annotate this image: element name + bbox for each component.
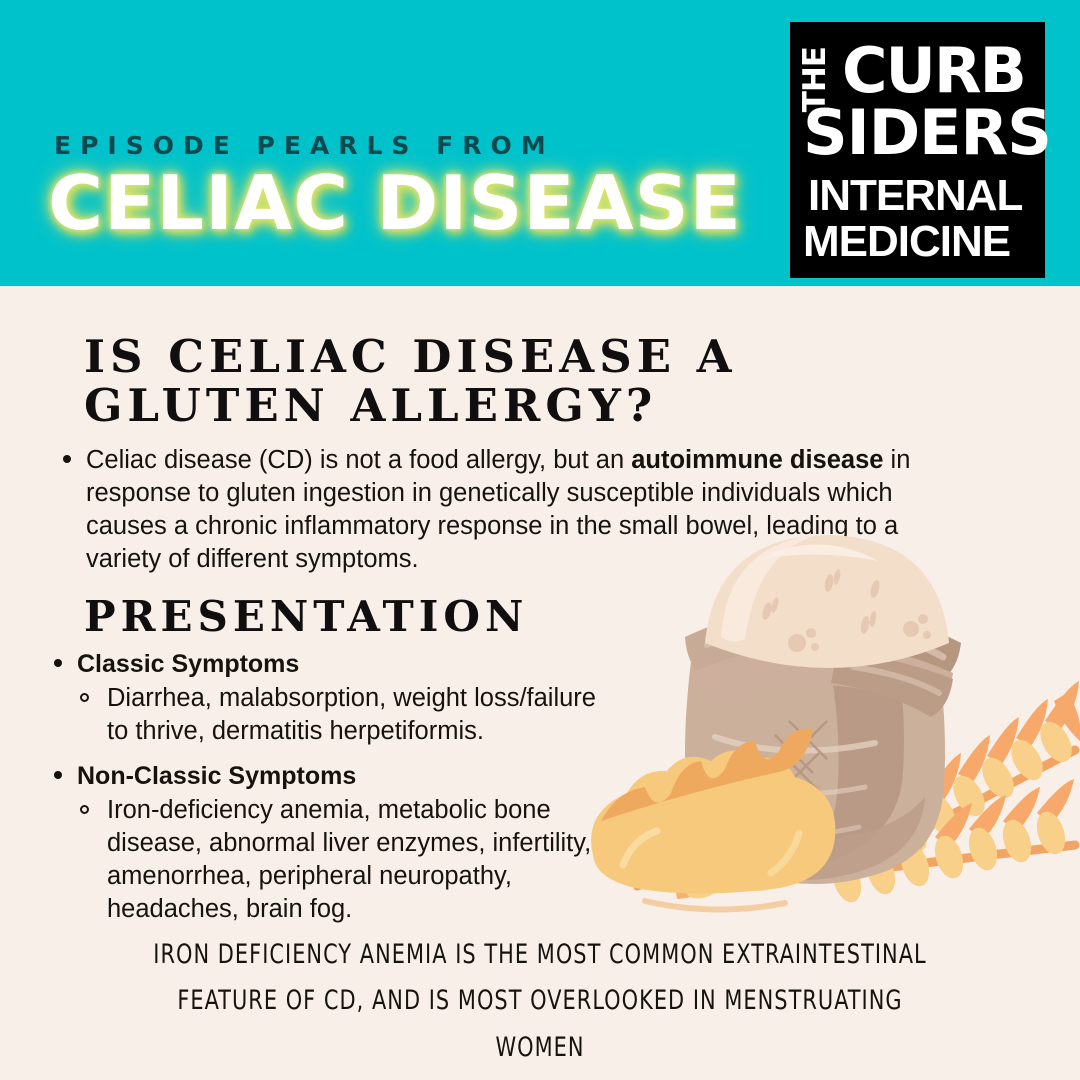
footer-line-2: FEATURE OF CD, AND IS MOST OVERLOOKED IN… <box>153 978 927 1071</box>
curbsiders-logo: THE CURB SIDERS INTERNAL MEDICINE <box>790 22 1045 278</box>
eyebrow-label: EPISODE PEARLS FROM <box>54 133 555 158</box>
section-heading-question: IS CELIAC DISEASE A GLUTEN ALLERGY? <box>84 333 804 430</box>
infographic-poster: EPISODE PEARLS FROM CELIAC DISEASE THE C… <box>0 0 1080 1080</box>
flour-sack-illustration <box>575 525 1080 950</box>
symptom-group-label: Non-Classic Symptoms <box>44 760 624 792</box>
symptom-group-label: Classic Symptoms <box>44 648 624 680</box>
symptom-group-detail: Iron-deficiency anemia, metabolic bone d… <box>72 794 624 926</box>
list-item: Non-Classic Symptoms Iron-deficiency ane… <box>44 760 624 926</box>
symptoms-list: Classic Symptoms Diarrhea, malabsorption… <box>44 648 624 938</box>
logo-medicine-text: MEDICINE <box>803 220 1010 264</box>
footer-citation: IRON DEFICIENCY ANEMIA IS THE MOST COMMO… <box>153 932 927 1080</box>
logo-curb-text: CURB <box>842 40 1025 102</box>
list-item: Classic Symptoms Diarrhea, malabsorption… <box>44 648 624 748</box>
symptom-group-detail: Diarrhea, malabsorption, weight loss/fai… <box>72 682 624 748</box>
intro-emphasis: autoimmune disease <box>631 446 883 474</box>
footer-line-1: IRON DEFICIENCY ANEMIA IS THE MOST COMMO… <box>153 932 927 978</box>
logo-siders-text: SIDERS <box>803 102 1051 164</box>
logo-internal-text: INTERNAL <box>808 174 1022 218</box>
page-title: CELIAC DISEASE <box>48 166 742 241</box>
footer-line-3: (GRISOLANO, 2004). <box>153 1071 927 1080</box>
section-heading-presentation: PRESENTATION <box>84 594 528 639</box>
